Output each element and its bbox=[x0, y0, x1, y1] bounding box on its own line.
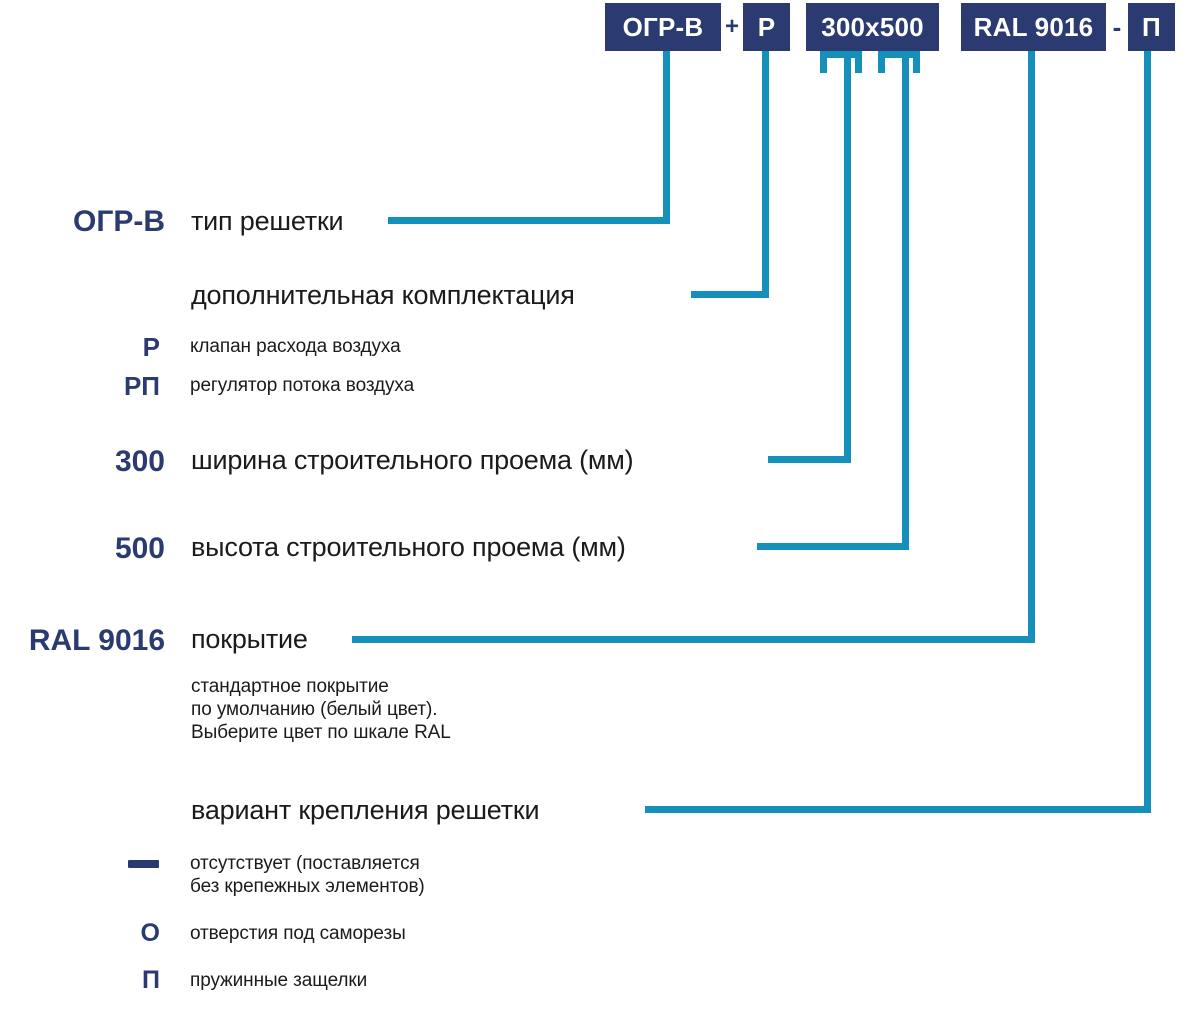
connector-height-horizontal bbox=[757, 543, 909, 550]
option-symbol-valve: Р bbox=[0, 332, 160, 363]
title-width: ширина строительного проема (мм) bbox=[191, 445, 633, 476]
key-grille-type: ОГР-В bbox=[0, 205, 165, 239]
code-box-mounting-option: П bbox=[1128, 3, 1175, 51]
code-box-opening-size: 300x500 bbox=[806, 3, 939, 51]
connector-mounting-horizontal bbox=[645, 806, 1151, 813]
title-grille-type: тип решетки bbox=[191, 206, 343, 237]
option-text-spring-latches: пружинные защелки bbox=[190, 969, 367, 992]
note-coating: стандартное покрытие по умолчанию (белый… bbox=[191, 675, 451, 744]
designation-diagram: ОГР-В + Р 300x500 RAL 9016 - П ОГР-В тип… bbox=[0, 0, 1190, 1015]
code-box-coating: RAL 9016 bbox=[961, 3, 1106, 51]
option-symbol-none-dash-icon bbox=[128, 860, 159, 868]
connector-extra-equipment-vertical bbox=[762, 51, 769, 298]
connector-mounting-vertical bbox=[1144, 51, 1151, 806]
option-text-screw-holes: отверстия под саморезы bbox=[190, 922, 406, 945]
option-symbol-spring-latches: П bbox=[0, 966, 160, 995]
option-text-regulator: регулятор потока воздуха bbox=[190, 374, 414, 397]
code-box-extra-equipment: Р bbox=[743, 3, 790, 51]
plus-separator: + bbox=[723, 3, 741, 51]
connector-grille-type-horizontal bbox=[388, 217, 670, 224]
option-symbol-screw-holes: О bbox=[0, 919, 160, 948]
connector-grille-type-vertical bbox=[663, 51, 670, 223]
dash-separator: - bbox=[1108, 3, 1126, 51]
bracket-height-right-leg bbox=[913, 51, 920, 73]
title-height: высота строительного проема (мм) bbox=[191, 532, 626, 563]
option-text-valve: клапан расхода воздуха bbox=[190, 335, 401, 358]
bracket-width-left-leg bbox=[820, 51, 827, 73]
option-text-none: отсутствует (поставляется без крепежных … bbox=[190, 852, 425, 898]
connector-width-vertical bbox=[844, 58, 851, 456]
option-symbol-regulator: РП bbox=[0, 371, 160, 402]
title-mounting: вариант крепления решетки bbox=[191, 795, 539, 826]
key-height: 500 bbox=[0, 532, 165, 566]
connector-width-horizontal bbox=[768, 456, 851, 463]
key-width: 300 bbox=[0, 445, 165, 479]
connector-coating-horizontal bbox=[352, 636, 1035, 643]
bracket-width-right-leg bbox=[855, 51, 862, 73]
connector-extra-equipment-horizontal bbox=[691, 291, 769, 298]
key-coating: RAL 9016 bbox=[0, 624, 165, 658]
bracket-height-left-leg bbox=[878, 51, 885, 73]
code-box-grille-type: ОГР-В bbox=[605, 3, 721, 51]
title-coating: покрытие bbox=[191, 624, 308, 655]
connector-coating-vertical bbox=[1028, 51, 1035, 636]
connector-height-vertical bbox=[902, 58, 909, 543]
title-extra-equipment: дополнительная комплектация bbox=[191, 280, 575, 311]
